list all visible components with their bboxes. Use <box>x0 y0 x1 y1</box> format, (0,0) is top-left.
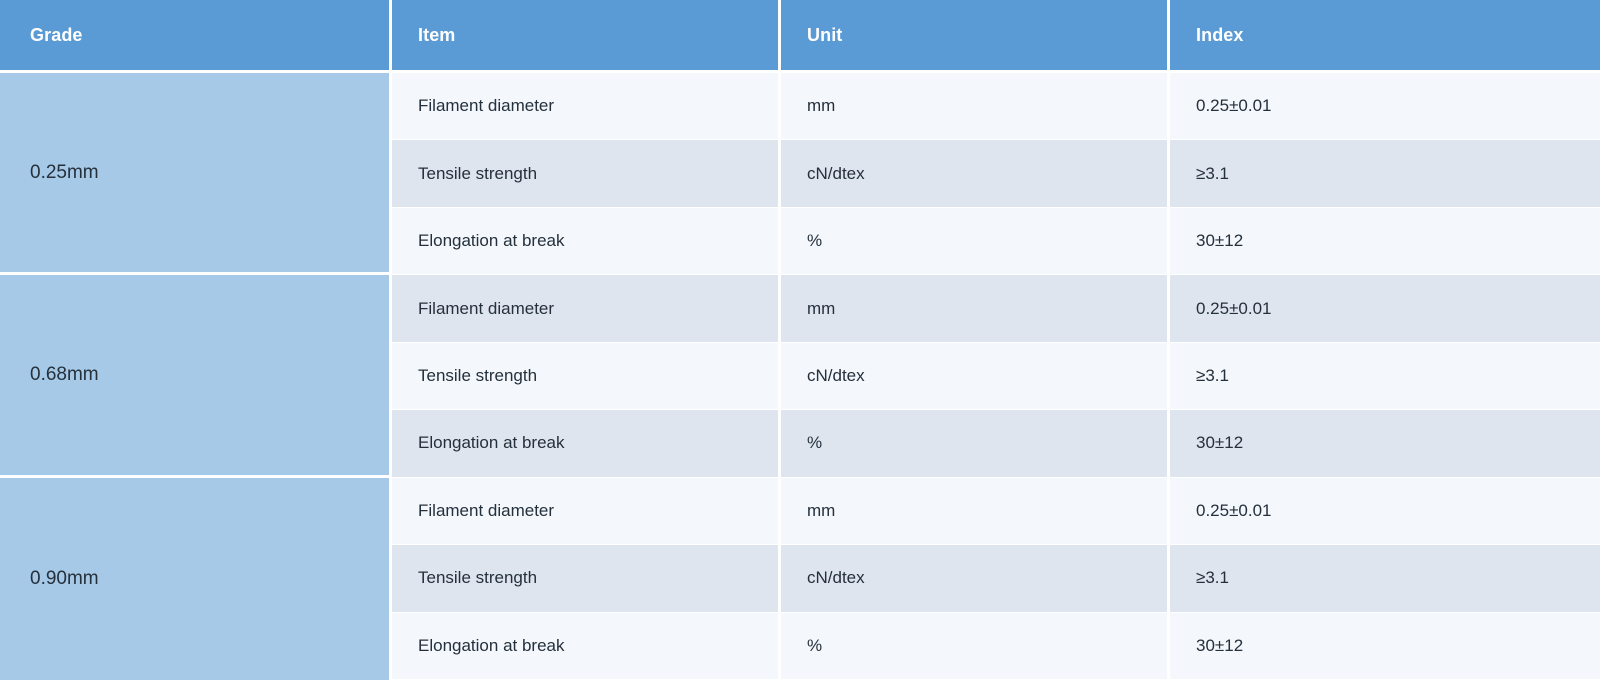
column-header-grade: Grade <box>0 0 392 73</box>
cell-index: 30±12 <box>1170 613 1600 680</box>
table-body: 0.25mm Filament diameter mm 0.25±0.01 Te… <box>0 73 1600 680</box>
cell-index: ≥3.1 <box>1170 343 1600 410</box>
cell-item: Tensile strength <box>392 545 781 612</box>
cell-unit: % <box>781 208 1170 275</box>
cell-unit: cN/dtex <box>781 140 1170 207</box>
grade-cell: 0.90mm <box>0 478 392 680</box>
cell-item: Elongation at break <box>392 613 781 680</box>
cell-item: Elongation at break <box>392 208 781 275</box>
cell-item: Elongation at break <box>392 410 781 477</box>
cell-item: Tensile strength <box>392 343 781 410</box>
cell-unit: cN/dtex <box>781 343 1170 410</box>
cell-unit: % <box>781 613 1170 680</box>
grade-cell: 0.68mm <box>0 275 392 477</box>
cell-index: 0.25±0.01 <box>1170 275 1600 342</box>
cell-unit: % <box>781 410 1170 477</box>
table-row: 0.68mm Filament diameter mm 0.25±0.01 <box>0 275 1600 342</box>
column-header-item: Item <box>392 0 781 73</box>
grade-cell: 0.25mm <box>0 73 392 275</box>
cell-unit: mm <box>781 275 1170 342</box>
cell-index: 0.25±0.01 <box>1170 73 1600 140</box>
specification-table: Grade Item Unit Index 0.25mm Filament di… <box>0 0 1600 680</box>
column-header-index: Index <box>1170 0 1600 73</box>
cell-unit: mm <box>781 73 1170 140</box>
cell-item: Filament diameter <box>392 275 781 342</box>
cell-unit: mm <box>781 478 1170 545</box>
cell-index: ≥3.1 <box>1170 140 1600 207</box>
cell-unit: cN/dtex <box>781 545 1170 612</box>
cell-index: ≥3.1 <box>1170 545 1600 612</box>
cell-item: Filament diameter <box>392 478 781 545</box>
header-row: Grade Item Unit Index <box>0 0 1600 73</box>
column-header-unit: Unit <box>781 0 1170 73</box>
cell-index: 0.25±0.01 <box>1170 478 1600 545</box>
table-header: Grade Item Unit Index <box>0 0 1600 73</box>
cell-item: Tensile strength <box>392 140 781 207</box>
table-row: 0.90mm Filament diameter mm 0.25±0.01 <box>0 478 1600 545</box>
cell-index: 30±12 <box>1170 410 1600 477</box>
table-row: 0.25mm Filament diameter mm 0.25±0.01 <box>0 73 1600 140</box>
cell-index: 30±12 <box>1170 208 1600 275</box>
cell-item: Filament diameter <box>392 73 781 140</box>
